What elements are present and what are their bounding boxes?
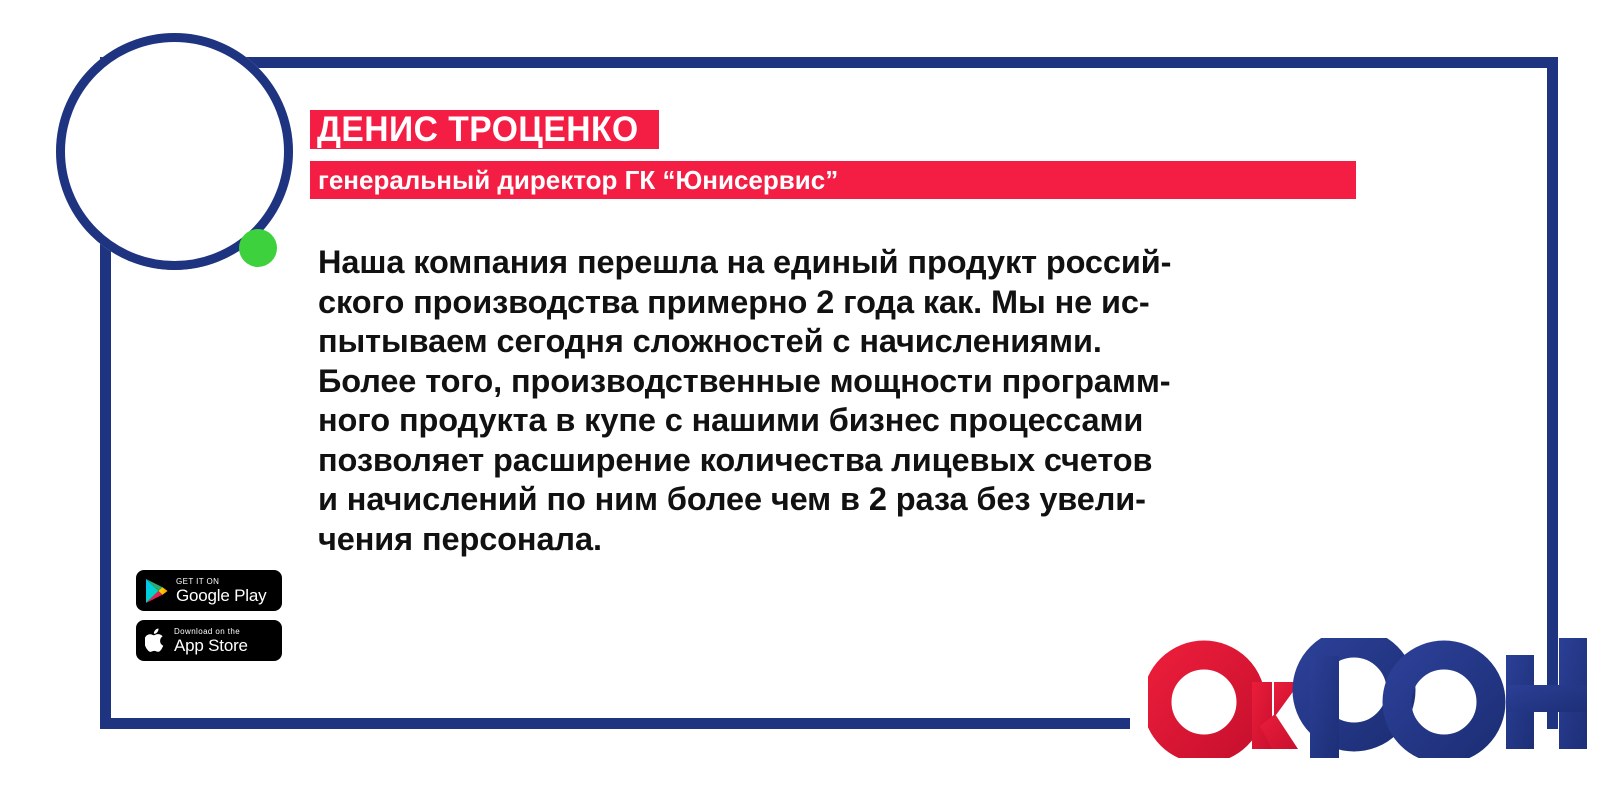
google-play-icon (145, 578, 169, 604)
avatar (56, 33, 293, 270)
quote-card: ДЕНИС ТРОЦЕНКО генеральный директор ГК “… (0, 0, 1600, 800)
google-play-badge-big: Google Play (176, 587, 266, 605)
quote-line: Более того, производственные мощности пр… (318, 362, 1378, 402)
person-name-banner: ДЕНИС ТРОЦЕНКО (310, 110, 659, 149)
person-role: генеральный директор ГК “Юнисервис” (318, 167, 838, 193)
card-frame-right (1547, 57, 1558, 729)
card-frame-bottom (100, 718, 1130, 729)
app-store-badge[interactable]: Download on the App Store (136, 620, 282, 661)
app-store-badge-big: App Store (174, 637, 248, 655)
person-name: ДЕНИС ТРОЦЕНКО (317, 112, 639, 147)
quote-line: чения персонала. (318, 520, 1378, 560)
person-role-banner: генеральный директор ГК “Юнисервис” (310, 161, 1356, 199)
quote-line: Наша компания перешла на единый продукт … (318, 243, 1378, 283)
card-frame-top (100, 57, 1558, 68)
quote-text: Наша компания перешла на единый продукт … (318, 243, 1378, 559)
quote-line: ного продукта в купе с нашими бизнес про… (318, 401, 1378, 441)
okron-logo (1148, 638, 1588, 758)
google-play-badge[interactable]: GET IT ON Google Play (136, 570, 282, 611)
app-store-badge-small: Download on the (174, 627, 248, 637)
quote-line: позволяет расширение количества лицевых … (318, 441, 1378, 481)
quote-line: ского производства примерно 2 года как. … (318, 283, 1378, 323)
google-play-badge-small: GET IT ON (176, 577, 266, 587)
status-dot (239, 229, 277, 267)
apple-icon (145, 627, 167, 654)
quote-line: пытываем сегодня сложностей с начисления… (318, 322, 1378, 362)
quote-line: и начислений по ним более чем в 2 раза б… (318, 480, 1378, 520)
